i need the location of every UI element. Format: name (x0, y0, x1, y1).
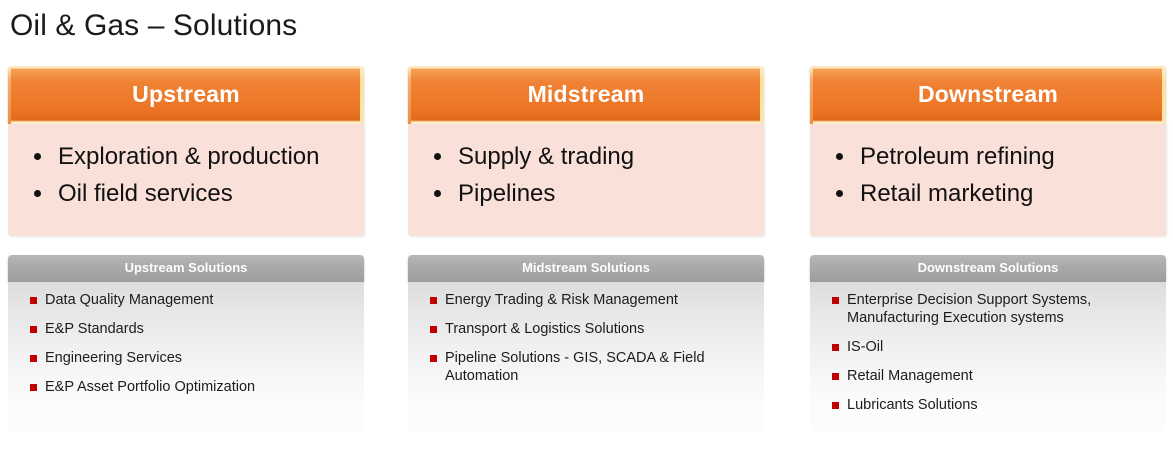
bullet-dot-icon (34, 190, 41, 197)
square-bullet-icon (832, 297, 839, 304)
list-item-label: Transport & Logistics Solutions (445, 321, 644, 337)
square-bullet-icon (832, 402, 839, 409)
list-item: Retail marketing (832, 175, 1156, 212)
square-bullet-icon (832, 344, 839, 351)
square-bullet-icon (430, 326, 437, 333)
list-item-label: Oil field services (58, 180, 233, 207)
list-item[interactable]: IS-Oil (824, 338, 1152, 356)
solutions-header-upstream[interactable]: Upstream Solutions (8, 255, 364, 282)
list-item-label: Retail Management (847, 368, 973, 384)
column-midstream: Midstream Supply & trading Pipelines Mid… (408, 66, 764, 236)
list-item-label: E&P Standards (45, 321, 144, 337)
square-bullet-icon (832, 373, 839, 380)
list-item: Exploration & production (30, 138, 354, 175)
list-item-label: Pipelines (458, 180, 555, 207)
solutions-list: Enterprise Decision Support Systems,Manu… (824, 291, 1152, 414)
solutions-list: Energy Trading & Risk Management Transpo… (422, 291, 750, 385)
list-item-label: Engineering Services (45, 350, 182, 366)
list-item[interactable]: Transport & Logistics Solutions (422, 320, 750, 338)
bullet-dot-icon (34, 153, 41, 160)
category-header-midstream[interactable]: Midstream (408, 66, 764, 124)
page-title: Oil & Gas – Solutions (10, 8, 297, 44)
list-item-label-line2: Manufacturing Execution systems (847, 309, 1152, 327)
bullet-dot-icon (836, 153, 843, 160)
list-item-label: Petroleum refining (860, 143, 1055, 170)
list-item-label: Energy Trading & Risk Management (445, 292, 678, 308)
category-header-label: Downstream (810, 81, 1166, 108)
list-item: Petroleum refining (832, 138, 1156, 175)
solutions-panel-midstream: Energy Trading & Risk Management Transpo… (408, 282, 764, 432)
list-item[interactable]: Data Quality Management (22, 291, 350, 309)
column-downstream: Downstream Petroleum refining Retail mar… (810, 66, 1166, 236)
list-item-label: IS-Oil (847, 339, 883, 355)
solutions-panel-upstream: Data Quality Management E&P Standards En… (8, 282, 364, 432)
list-item[interactable]: Retail Management (824, 367, 1152, 385)
list-item-label: Exploration & production (58, 143, 320, 170)
list-item: Pipelines (430, 175, 754, 212)
list-item[interactable]: E&P Standards (22, 320, 350, 338)
category-body-downstream: Petroleum refining Retail marketing (810, 124, 1166, 236)
list-item[interactable]: Lubricants Solutions (824, 396, 1152, 414)
list-item[interactable]: Enterprise Decision Support Systems,Manu… (824, 291, 1152, 327)
category-body-midstream: Supply & trading Pipelines (408, 124, 764, 236)
category-body-upstream: Exploration & production Oil field servi… (8, 124, 364, 236)
list-item[interactable]: E&P Asset Portfolio Optimization (22, 378, 350, 396)
bullet-dot-icon (836, 190, 843, 197)
solutions-header-downstream[interactable]: Downstream Solutions (810, 255, 1166, 282)
solutions-panel-downstream: Enterprise Decision Support Systems,Manu… (810, 282, 1166, 432)
category-bullet-list: Exploration & production Oil field servi… (30, 138, 354, 212)
square-bullet-icon (30, 326, 37, 333)
list-item[interactable]: Engineering Services (22, 349, 350, 367)
solutions-header-midstream[interactable]: Midstream Solutions (408, 255, 764, 282)
slide-canvas: Oil & Gas – Solutions Upstream Explorati… (0, 0, 1173, 449)
list-item-label: Data Quality Management (45, 292, 213, 308)
category-header-upstream[interactable]: Upstream (8, 66, 364, 124)
list-item: Supply & trading (430, 138, 754, 175)
category-header-label: Midstream (408, 81, 764, 108)
list-item-label-line2: Automation (445, 367, 750, 385)
category-bullet-list: Supply & trading Pipelines (430, 138, 754, 212)
column-upstream: Upstream Exploration & production Oil fi… (8, 66, 364, 236)
list-item-label: Supply & trading (458, 143, 634, 170)
solutions-list: Data Quality Management E&P Standards En… (22, 291, 350, 396)
list-item-label: Enterprise Decision Support Systems, (847, 292, 1091, 308)
solutions-header-label: Downstream Solutions (810, 260, 1166, 275)
list-item[interactable]: Energy Trading & Risk Management (422, 291, 750, 309)
list-item-label: Retail marketing (860, 180, 1033, 207)
category-header-label: Upstream (8, 81, 364, 108)
square-bullet-icon (430, 297, 437, 304)
square-bullet-icon (30, 384, 37, 391)
list-item: Oil field services (30, 175, 354, 212)
list-item[interactable]: Pipeline Solutions - GIS, SCADA & FieldA… (422, 349, 750, 385)
solutions-header-label: Midstream Solutions (408, 260, 764, 275)
category-bullet-list: Petroleum refining Retail marketing (832, 138, 1156, 212)
category-header-downstream[interactable]: Downstream (810, 66, 1166, 124)
list-item-label: Lubricants Solutions (847, 397, 978, 413)
square-bullet-icon (30, 297, 37, 304)
solutions-header-label: Upstream Solutions (8, 260, 364, 275)
list-item-label: E&P Asset Portfolio Optimization (45, 379, 255, 395)
square-bullet-icon (30, 355, 37, 362)
bullet-dot-icon (434, 153, 441, 160)
bullet-dot-icon (434, 190, 441, 197)
square-bullet-icon (430, 355, 437, 362)
list-item-label: Pipeline Solutions - GIS, SCADA & Field (445, 350, 705, 366)
